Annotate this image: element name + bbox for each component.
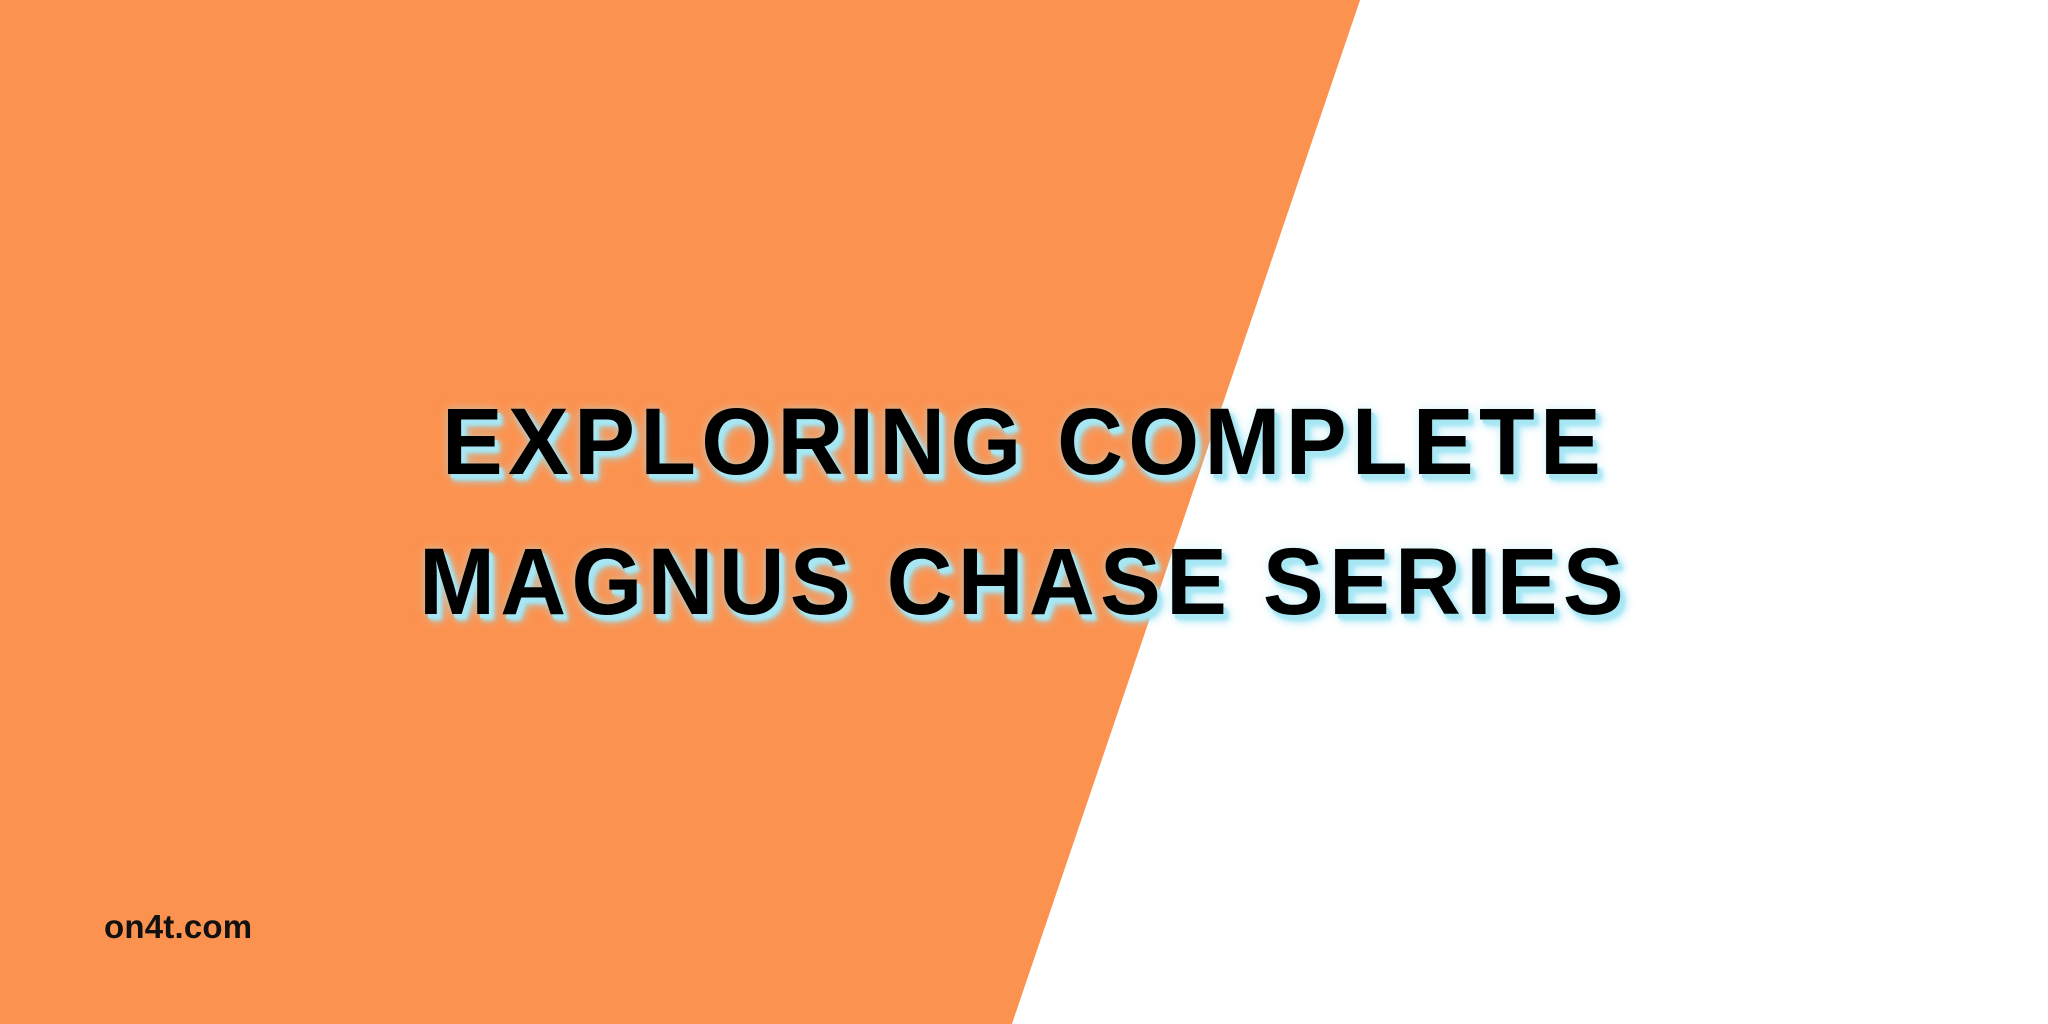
- diagonal-orange-wedge: [0, 0, 2048, 1024]
- banner-canvas: EXPLORING COMPLETE MAGNUS CHASE SERIES o…: [0, 0, 2048, 1024]
- watermark-on4t: on4t.com: [104, 908, 252, 946]
